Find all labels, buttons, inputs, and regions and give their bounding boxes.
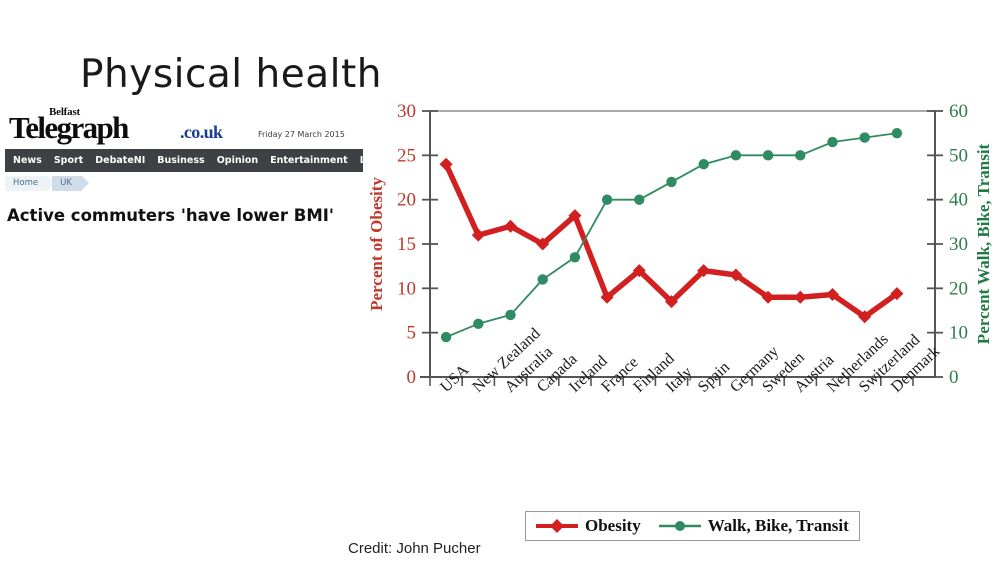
breadcrumb-item-home[interactable]: Home xyxy=(5,176,48,191)
series-marker-circle xyxy=(634,194,644,204)
series-marker-circle xyxy=(795,150,805,160)
y-axis-right-tick-label: 10 xyxy=(949,323,968,344)
y-axis-right-tick-label: 60 xyxy=(949,101,968,122)
y-axis-left-title: Percent of Obesity xyxy=(368,177,386,311)
y-axis-right-tick-label: 40 xyxy=(949,190,968,211)
series-marker-circle xyxy=(827,137,837,147)
page-title: Physical health xyxy=(80,52,382,97)
y-axis-left-tick-label: 0 xyxy=(407,367,417,388)
series-marker-circle xyxy=(731,150,741,160)
y-axis-right-tick-label: 0 xyxy=(949,367,959,388)
legend-marker-circle-icon xyxy=(657,518,703,534)
y-axis-right-tick-label: 50 xyxy=(949,145,968,166)
nav-item-life[interactable]: Life xyxy=(354,155,363,166)
breadcrumb: Home UK xyxy=(5,174,363,192)
series-marker-diamond xyxy=(794,291,807,304)
series-marker-circle xyxy=(602,194,612,204)
nav-item-business[interactable]: Business xyxy=(151,155,210,166)
legend-item-obesity: Obesity xyxy=(534,516,641,536)
series-marker-circle xyxy=(763,150,773,160)
y-axis-right-title: Percent Walk, Bike, Transit xyxy=(974,143,993,344)
series-marker-circle xyxy=(860,132,870,142)
series-marker-circle xyxy=(473,319,483,329)
y-axis-left-tick-label: 10 xyxy=(397,278,416,299)
chart-container: 0510152025300102030405060Percent of Obes… xyxy=(368,95,998,565)
y-axis-left-tick-label: 5 xyxy=(407,323,417,344)
y-axis-right-tick-label: 30 xyxy=(949,234,968,255)
legend-label-active-transport: Walk, Bike, Transit xyxy=(708,516,849,536)
nav-item-sport[interactable]: Sport xyxy=(48,155,89,166)
x-axis-category-label: USA xyxy=(437,361,472,396)
series-marker-circle xyxy=(699,159,709,169)
series-marker-circle xyxy=(505,310,515,320)
article-headline[interactable]: Active commuters 'have lower BMI' xyxy=(5,206,363,225)
legend-item-active-transport: Walk, Bike, Transit xyxy=(657,516,849,536)
news-clipping: Belfast Telegraph .co.uk Friday 27 March… xyxy=(5,108,363,225)
masthead-telegraph: Telegraph xyxy=(9,112,128,143)
masthead-domain: .co.uk xyxy=(180,122,222,143)
series-marker-circle xyxy=(892,128,902,138)
breadcrumb-item-uk[interactable]: UK xyxy=(52,176,82,191)
dual-axis-line-chart: 0510152025300102030405060Percent of Obes… xyxy=(368,95,998,495)
nav-item-debateni[interactable]: DebateNI xyxy=(89,155,151,166)
site-nav[interactable]: News Sport DebateNI Business Opinion Ent… xyxy=(5,149,363,172)
series-marker-circle xyxy=(666,177,676,187)
y-axis-left-tick-label: 30 xyxy=(397,101,416,122)
nav-item-opinion[interactable]: Opinion xyxy=(211,155,264,166)
legend-label-obesity: Obesity xyxy=(585,516,641,536)
legend-marker-diamond-icon xyxy=(534,518,580,534)
nav-item-news[interactable]: News xyxy=(5,155,48,166)
series-marker-circle xyxy=(570,252,580,262)
newspaper-masthead: Belfast Telegraph .co.uk Friday 27 March… xyxy=(5,108,363,144)
series-marker-circle xyxy=(538,274,548,284)
y-axis-left-tick-label: 15 xyxy=(397,234,416,255)
y-axis-left-tick-label: 25 xyxy=(397,145,416,166)
y-axis-left-tick-label: 20 xyxy=(397,190,416,211)
chart-legend: Obesity Walk, Bike, Transit xyxy=(525,511,860,541)
series-marker-circle xyxy=(441,332,451,342)
masthead-date: Friday 27 March 2015 xyxy=(258,130,345,139)
slide-root: Physical health Belfast Telegraph .co.uk… xyxy=(0,0,1003,565)
nav-item-entertainment[interactable]: Entertainment xyxy=(264,155,354,166)
y-axis-right-tick-label: 20 xyxy=(949,278,968,299)
